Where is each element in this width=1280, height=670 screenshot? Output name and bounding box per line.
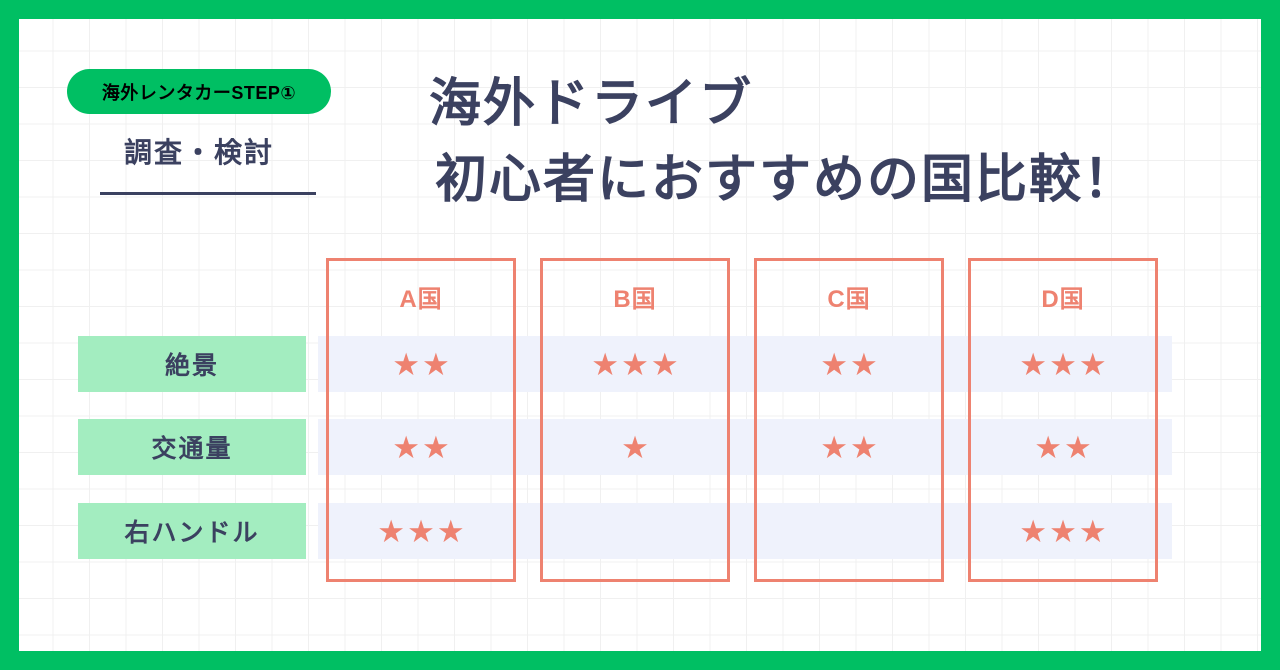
star-icon: ★ (850, 432, 878, 463)
star-icon: ★ (850, 349, 878, 380)
row-label: 絶景 (78, 336, 306, 392)
row-label: 交通量 (78, 419, 306, 475)
star-icon: ★ (1049, 349, 1077, 380)
star-icon: ★ (1049, 516, 1077, 547)
row-label: 右ハンドル (78, 503, 306, 559)
star-icon: ★ (377, 516, 405, 547)
star-icon: ★ (407, 516, 435, 547)
column-header: B国 (540, 269, 730, 324)
star-icon: ★ (621, 432, 649, 463)
rating-cell: ★★ (754, 336, 944, 392)
star-icon: ★ (651, 349, 679, 380)
rating-cell (754, 503, 944, 559)
rating-cell: ★★ (326, 419, 516, 475)
column-header: A国 (326, 269, 516, 324)
star-icon: ★ (392, 432, 420, 463)
rating-cell: ★★★ (968, 503, 1158, 559)
rating-cell (540, 503, 730, 559)
star-icon: ★ (820, 349, 848, 380)
star-icon: ★ (591, 349, 619, 380)
rating-cell: ★★ (326, 336, 516, 392)
star-icon: ★ (1019, 516, 1047, 547)
rating-cell: ★ (540, 419, 730, 475)
grid-canvas: 海外レンタカーSTEP① 調査・検討 海外ドライブ 初心者におすすめの国比較！ … (19, 19, 1261, 651)
column-header: D国 (968, 269, 1158, 324)
star-icon: ★ (422, 349, 450, 380)
star-icon: ★ (1079, 349, 1107, 380)
column-header: C国 (754, 269, 944, 324)
star-icon: ★ (392, 349, 420, 380)
star-icon: ★ (437, 516, 465, 547)
star-icon: ★ (1079, 516, 1107, 547)
rating-cell: ★★ (754, 419, 944, 475)
star-icon: ★ (621, 349, 649, 380)
comparison-table: A国 B国 C国 D国 絶景 交通量 右ハンドル ★★ ★★★ ★★ ★★★ ★… (19, 19, 1261, 651)
star-icon: ★ (1034, 432, 1062, 463)
rating-cell: ★★★ (968, 336, 1158, 392)
rating-cell: ★★★ (540, 336, 730, 392)
star-icon: ★ (422, 432, 450, 463)
star-icon: ★ (1019, 349, 1047, 380)
infographic-root: 海外レンタカーSTEP① 調査・検討 海外ドライブ 初心者におすすめの国比較！ … (0, 0, 1280, 670)
star-icon: ★ (1064, 432, 1092, 463)
rating-cell: ★★★ (326, 503, 516, 559)
rating-cell: ★★ (968, 419, 1158, 475)
star-icon: ★ (820, 432, 848, 463)
